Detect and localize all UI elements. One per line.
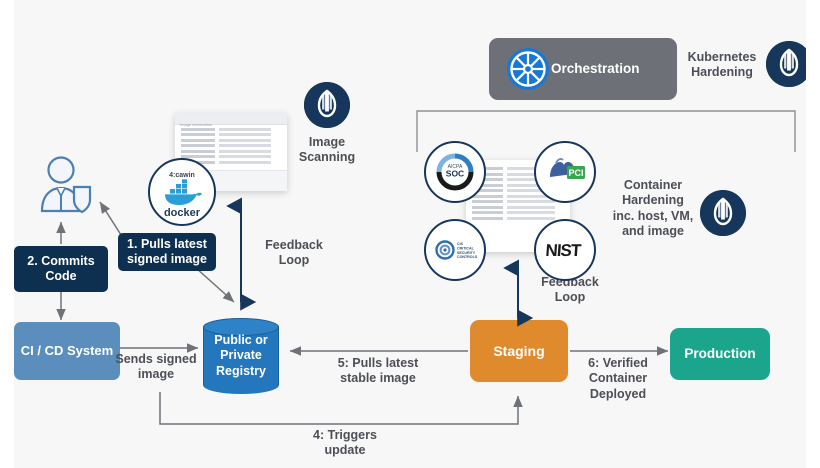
svg-text:CONTROLS: CONTROLS	[457, 255, 478, 259]
docker-badge: 4:cawin docker	[148, 158, 216, 226]
scan-panel-row	[181, 128, 281, 131]
svg-text:docker: docker	[164, 207, 201, 219]
production-label: Production	[684, 346, 755, 362]
verified-container-deployed-label: 6: Verified Container Deployed	[572, 356, 664, 402]
diagram-canvas: 2. Commits Code 1. Pulls latest signed i…	[0, 0, 820, 468]
feedback-loop-left-label: Feedback Loop	[256, 238, 332, 269]
staging-label: Staging	[493, 343, 544, 360]
commits-code-box[interactable]: 2. Commits Code	[14, 246, 108, 292]
orchestration-label: Orchestration	[551, 61, 640, 77]
svg-text:CIS: CIS	[457, 242, 464, 246]
registry-label: Public or Private Registry	[203, 318, 279, 394]
container-hardening-torch-icon	[700, 190, 746, 236]
kubernetes-helm-icon	[506, 47, 550, 91]
svg-text:NIST: NIST	[545, 241, 583, 260]
svg-text:4:cawin: 4:cawin	[169, 172, 195, 179]
staging-box[interactable]: Staging	[470, 320, 568, 382]
kubernetes-hardening-label: Kubernetes Hardening	[680, 50, 764, 81]
svg-text:SECURITY: SECURITY	[457, 251, 476, 255]
container-hardening-label: Container Hardening inc. host, VM, and i…	[606, 178, 700, 239]
scan-panel-row	[181, 155, 281, 158]
registry-cylinder[interactable]: Public or Private Registry	[203, 318, 279, 394]
triggers-update-label: 4: Triggers update	[280, 428, 410, 459]
scan-panel-row	[181, 139, 281, 142]
image-scanning-label: Image Scanning	[283, 135, 371, 166]
scan-panel-header: Image information	[175, 113, 287, 125]
kubernetes-hardening-torch-icon	[766, 41, 812, 87]
svg-text:SOC: SOC	[446, 169, 464, 179]
cicd-system-box[interactable]: CI / CD System	[14, 322, 120, 380]
hipaa-pci-badge: PCI	[534, 141, 596, 203]
aicpa-soc-badge: AICPA SOC	[424, 141, 486, 203]
scan-panel-row	[181, 133, 281, 136]
sends-signed-image-label: Sends signed image	[108, 352, 204, 383]
developer-icon	[34, 155, 96, 217]
nist-badge: NIST	[534, 219, 596, 281]
production-box[interactable]: Production	[670, 328, 770, 380]
scan-panel-row	[181, 150, 281, 153]
pulls-latest-stable-label: 5: Pulls latest stable image	[318, 356, 438, 387]
svg-text:CRITICAL: CRITICAL	[457, 246, 475, 250]
pulls-latest-signed-image-box[interactable]: 1. Pulls latest signed image	[118, 233, 216, 271]
cicd-system-label: CI / CD System	[21, 343, 113, 359]
commits-code-label: 2. Commits Code	[14, 254, 108, 284]
image-scanning-torch-icon	[304, 82, 350, 128]
pulls-latest-signed-image-label: 1. Pulls latest signed image	[118, 237, 216, 267]
svg-text:PCI: PCI	[568, 168, 583, 178]
cis-controls-badge: CIS CRITICAL SECURITY CONTROLS	[424, 219, 486, 281]
scan-panel-row	[181, 144, 281, 147]
